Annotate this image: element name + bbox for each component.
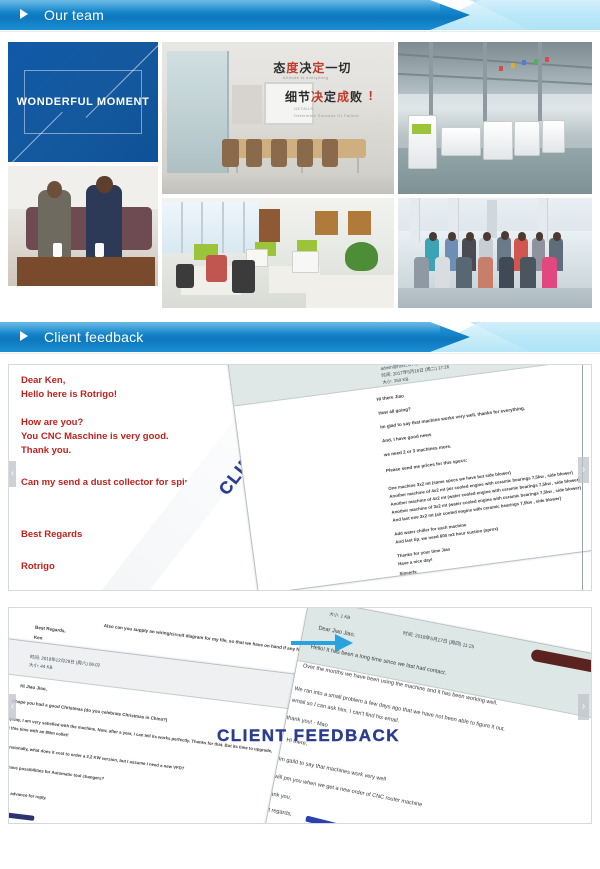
email-body-line: I will pm you when we get a new order of… [271, 773, 423, 808]
wall [8, 166, 158, 209]
head [518, 232, 526, 241]
person-right [86, 185, 122, 257]
wonderful-moment-tile: WONDERFUL MOMENT [8, 42, 158, 162]
person-front [542, 257, 558, 288]
cnc-machine-console [408, 115, 437, 169]
office-chair [232, 260, 255, 293]
bunting [511, 63, 515, 68]
email-screenshot-1: admin@hcnc.cn<admin@hcnc.cn> 时间: 2017年5月… [227, 364, 592, 591]
next-arrow-button[interactable]: › [578, 457, 589, 483]
email-body-line: Ken [34, 635, 43, 641]
section-header-our-team: Our team [0, 0, 600, 34]
cnc-machine [441, 127, 482, 156]
desk [306, 275, 394, 308]
letter-line: How are you? [21, 417, 83, 428]
person-front [478, 257, 494, 288]
prev-arrow-button[interactable]: ‹ [9, 461, 16, 487]
email-body-line: And, I have good news [382, 432, 432, 443]
head [466, 232, 474, 241]
column [538, 42, 542, 121]
cabinet [315, 211, 338, 235]
meeting-room-image: 态度决定一切 Attitude is everything 细节决定成败 DET… [162, 42, 394, 194]
head [96, 176, 113, 193]
head [429, 232, 437, 241]
wall-slogan-en-1: Attitude is everything [283, 75, 329, 80]
email-body-line: Thanks for your time Jiao [397, 547, 451, 559]
chair [271, 139, 287, 166]
wall-slogan-en-2a: DETAILS [294, 106, 313, 111]
bunting [545, 57, 549, 62]
email-body-line: How all going? [378, 406, 411, 415]
client-feedback-image-1[interactable]: Dear Ken, Hello here is Rotrigo! How are… [8, 364, 592, 591]
team-gallery: WONDERFUL MOMENT 态度决定一切 Attitude is ever… [0, 34, 600, 316]
office-chair [206, 255, 227, 281]
letter-line: Can my send a dust collector for spindle… [21, 477, 207, 488]
letter-line: Rotrigo [21, 561, 55, 572]
person-front [520, 257, 536, 288]
person-front [435, 257, 451, 288]
roof [398, 42, 592, 94]
section-title-client-feedback: Client feedback [44, 322, 144, 352]
arrow-shaft [291, 641, 339, 645]
head [483, 232, 491, 241]
email-body-line: Hi there Jiao [376, 393, 404, 402]
arrow-right-icon [291, 632, 353, 654]
person-front [499, 257, 515, 288]
floor [162, 173, 394, 194]
open-office-image [162, 198, 394, 308]
glass-wall [167, 51, 229, 182]
head [501, 231, 509, 240]
email-body-line: Have a nice day! [398, 557, 433, 566]
wall-slogan-cn-2: 细节决定成败 [285, 88, 363, 105]
shelf [232, 85, 262, 125]
wonderful-moment-caption: WONDERFUL MOMENT [8, 96, 158, 108]
factory-workshop-photo [398, 42, 592, 194]
cnc-machine [483, 121, 512, 159]
client-meeting-photo [8, 166, 158, 286]
wall-slogan-cn-1: 态度决定一切 [273, 59, 351, 76]
cnc-machine [514, 121, 539, 156]
email-greeting: Hi Jiao Jiao, [20, 683, 47, 691]
window-mullion [222, 202, 224, 253]
pillar [410, 198, 421, 242]
column [483, 42, 487, 127]
email-body-line: Sincerly, [399, 569, 417, 576]
product-detail-page: Our team WONDERFUL MOMENT [0, 0, 600, 869]
watermark-client-feedback-2: CLIENT FEEDBACK [217, 726, 400, 746]
client-meeting-image [8, 166, 158, 286]
ground [398, 288, 592, 308]
chair [222, 139, 238, 166]
machine-screen [412, 124, 431, 133]
prev-arrow-button[interactable]: ‹ [9, 694, 16, 720]
triangle-right-icon [20, 331, 28, 341]
email-body-line: we need 2 or 3 machines more. [384, 444, 452, 458]
office-chair [176, 264, 195, 288]
cnc-machine [542, 120, 565, 154]
arrow-head [335, 634, 353, 652]
bunting [522, 60, 526, 65]
next-arrow-button[interactable]: › [578, 694, 589, 720]
bunting [499, 66, 503, 71]
paper-cup [53, 243, 62, 257]
monitor [292, 251, 320, 273]
letter-line: Hello here is Rotrigo! [21, 389, 117, 400]
chair [322, 139, 338, 166]
potted-plant [345, 242, 377, 271]
window-mullion [181, 202, 183, 253]
wall-slogan-en-2b: Determine Success Or Failure [294, 113, 359, 118]
banner-divider [0, 353, 600, 354]
head [47, 181, 63, 198]
email-body-line: Please send me prices for this specs: [386, 458, 468, 474]
signature-redaction [8, 810, 35, 821]
person-front [414, 257, 430, 288]
wall-exclaim: ! [368, 88, 372, 103]
cabinet [259, 209, 280, 242]
meeting-room-photo: 态度决定一切 Attitude is everything 细节决定成败 DET… [162, 42, 394, 194]
head [553, 232, 561, 241]
banner-divider [0, 31, 600, 32]
open-office-photo [162, 198, 394, 308]
email-body-line: Thanks in advance for reply. [8, 788, 47, 800]
triangle-right-icon [20, 9, 28, 19]
group-photo-image [398, 198, 592, 308]
team-group-photo [398, 198, 592, 308]
bunting [534, 59, 538, 64]
letter-line: You CNC Maschine is very good. [21, 431, 169, 442]
section-title-our-team: Our team [44, 0, 104, 30]
conference-table [222, 139, 366, 157]
client-feedback-image-2[interactable]: Also can you supply an wiring/circuit di… [8, 607, 592, 824]
chair [246, 139, 262, 166]
letter-line: Thank you. [21, 445, 71, 456]
signature-redaction [305, 816, 343, 824]
factory-image [398, 42, 592, 194]
coffee-table [17, 257, 155, 286]
letter-line: Best Regards [21, 529, 82, 540]
email-body-line: Best regards, [264, 805, 292, 817]
chair [297, 139, 313, 166]
email-body-line: Best Regards, [35, 625, 66, 634]
person-front [456, 257, 472, 288]
cabinet [348, 211, 371, 235]
window-mullion [243, 202, 245, 253]
letter-line: Dear Ken, [21, 375, 65, 386]
email-body-line: Do you have possibilities for Automatic … [8, 762, 104, 781]
paper-cup [95, 243, 104, 257]
section-header-client-feedback: Client feedback [0, 322, 600, 356]
